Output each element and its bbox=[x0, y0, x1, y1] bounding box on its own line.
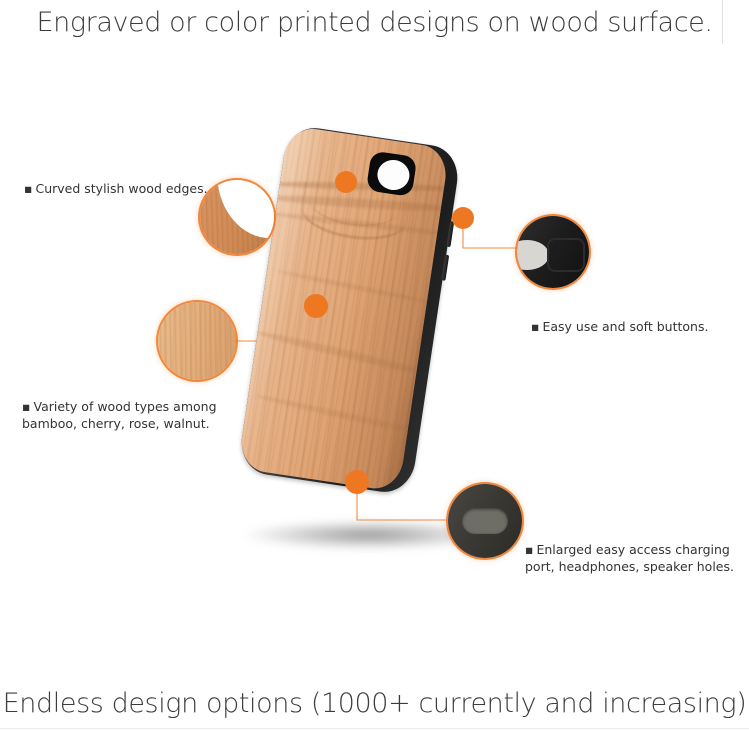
volume-up-button bbox=[446, 221, 454, 247]
wood-grain-line bbox=[254, 328, 439, 380]
callout-bullet-icon: ▪ bbox=[24, 181, 32, 196]
camera-cutout bbox=[366, 151, 417, 197]
detail-circle-wood-grain bbox=[158, 302, 236, 380]
page-title-top: Engraved or color printed designs on woo… bbox=[0, 5, 749, 41]
callout-text: Enlarged easy access charging port, head… bbox=[525, 542, 734, 574]
callout-bullet-icon: ▪ bbox=[22, 399, 30, 414]
charging-port-glyph bbox=[462, 508, 508, 534]
wood-grain-line bbox=[254, 393, 430, 438]
hotspot-dot-charging-port bbox=[345, 470, 369, 494]
callout-bullet-icon: ▪ bbox=[525, 542, 533, 557]
soft-button-glyph bbox=[517, 240, 549, 270]
wood-grain-line bbox=[277, 269, 434, 306]
page-title-bottom: Endless design options (1000+ currently … bbox=[0, 686, 749, 722]
callout-text: Curved stylish wood edges. bbox=[35, 181, 207, 196]
bottom-divider bbox=[0, 728, 749, 729]
hotspot-dot-wood-types bbox=[304, 294, 328, 318]
detail-circle-charging-port bbox=[448, 484, 522, 558]
edge-profile-shape bbox=[214, 180, 274, 244]
hotspot-dot-soft-buttons bbox=[452, 207, 474, 229]
product-image bbox=[232, 120, 512, 540]
callout-wood-types: ▪Variety of wood types among bamboo, che… bbox=[22, 381, 252, 432]
callout-curved-edges: ▪Curved stylish wood edges. bbox=[24, 163, 208, 197]
callout-bullet-icon: ▪ bbox=[531, 319, 539, 334]
callout-text: Variety of wood types among bamboo, cher… bbox=[22, 399, 217, 431]
detail-circle-curved-edge bbox=[200, 180, 274, 254]
detail-circle-soft-buttons bbox=[517, 216, 589, 288]
hotspot-dot-curved-edge bbox=[335, 171, 357, 193]
callout-soft-buttons: ▪Easy use and soft buttons. bbox=[531, 301, 708, 335]
callout-charging-port: ▪Enlarged easy access charging port, hea… bbox=[525, 524, 745, 575]
volume-down-button bbox=[441, 255, 449, 281]
soft-button-glyph bbox=[547, 238, 585, 272]
callout-text: Easy use and soft buttons. bbox=[542, 319, 708, 334]
